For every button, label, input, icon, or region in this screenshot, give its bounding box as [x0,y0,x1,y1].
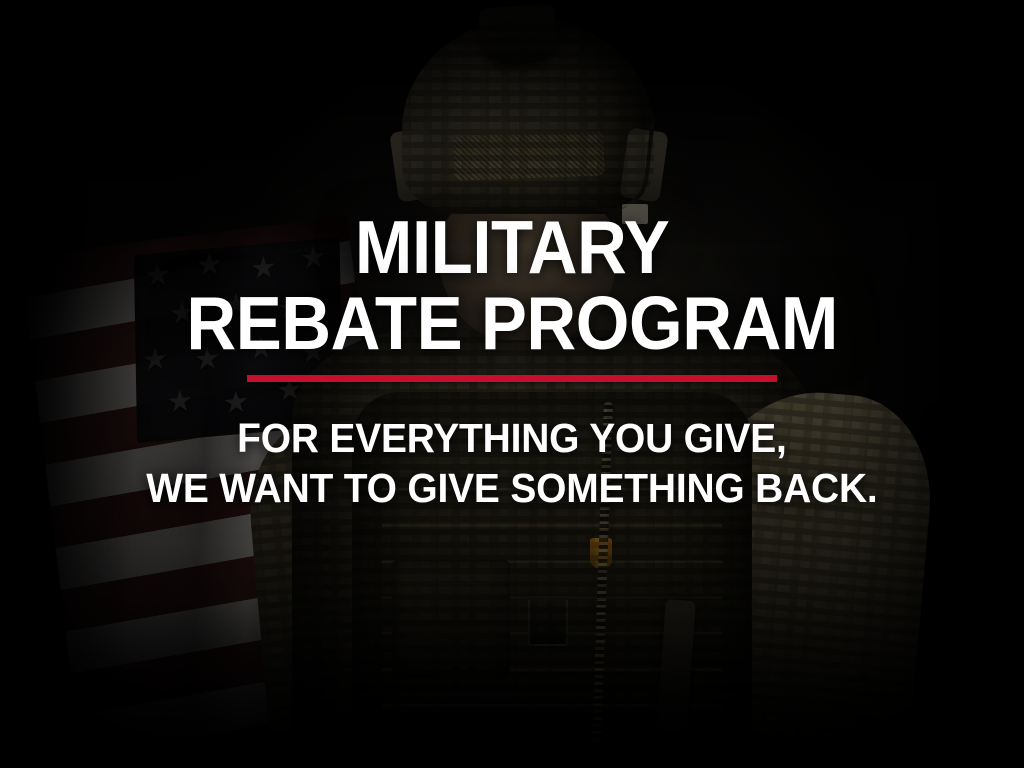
headline-line-2: REBATE PROGRAM [186,290,838,358]
military-rebate-banner: ★ ★ ★ ★ ★ ★ ★ ★ ★ ★ ★ ★ ★ ★ [0,0,1024,768]
red-divider-rule [247,375,777,382]
subheadline-line-1: FOR EVERYTHING YOU GIVE, [146,416,877,462]
text-overlay: MILITARY REBATE PROGRAM FOR EVERYTHING Y… [0,0,1024,768]
subheadline-line-2: WE WANT TO GIVE SOMETHING BACK. [146,466,877,512]
page-subtitle: FOR EVERYTHING YOU GIVE, WE WANT TO GIVE… [127,416,897,512]
page-title: MILITARY REBATE PROGRAM [158,214,866,357]
headline-line-1: MILITARY [186,214,838,282]
